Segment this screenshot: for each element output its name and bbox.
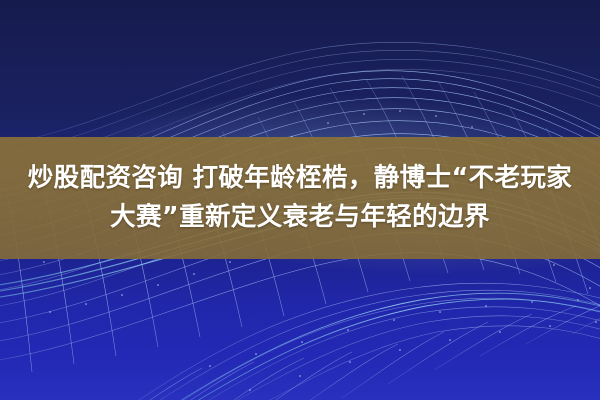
- banner-image: 炒股配资咨询 打破年龄桎梏，静博士“不老玩家 大赛”重新定义衰老与年轻的边界: [0, 0, 600, 400]
- title-line-2: 大赛”重新定义衰老与年轻的边界: [110, 203, 490, 233]
- banner-title: 炒股配资咨询 打破年龄桎梏，静博士“不老玩家 大赛”重新定义衰老与年轻的边界: [0, 137, 600, 259]
- title-line-1: 炒股配资咨询 打破年龄桎梏，静博士“不老玩家: [28, 164, 572, 194]
